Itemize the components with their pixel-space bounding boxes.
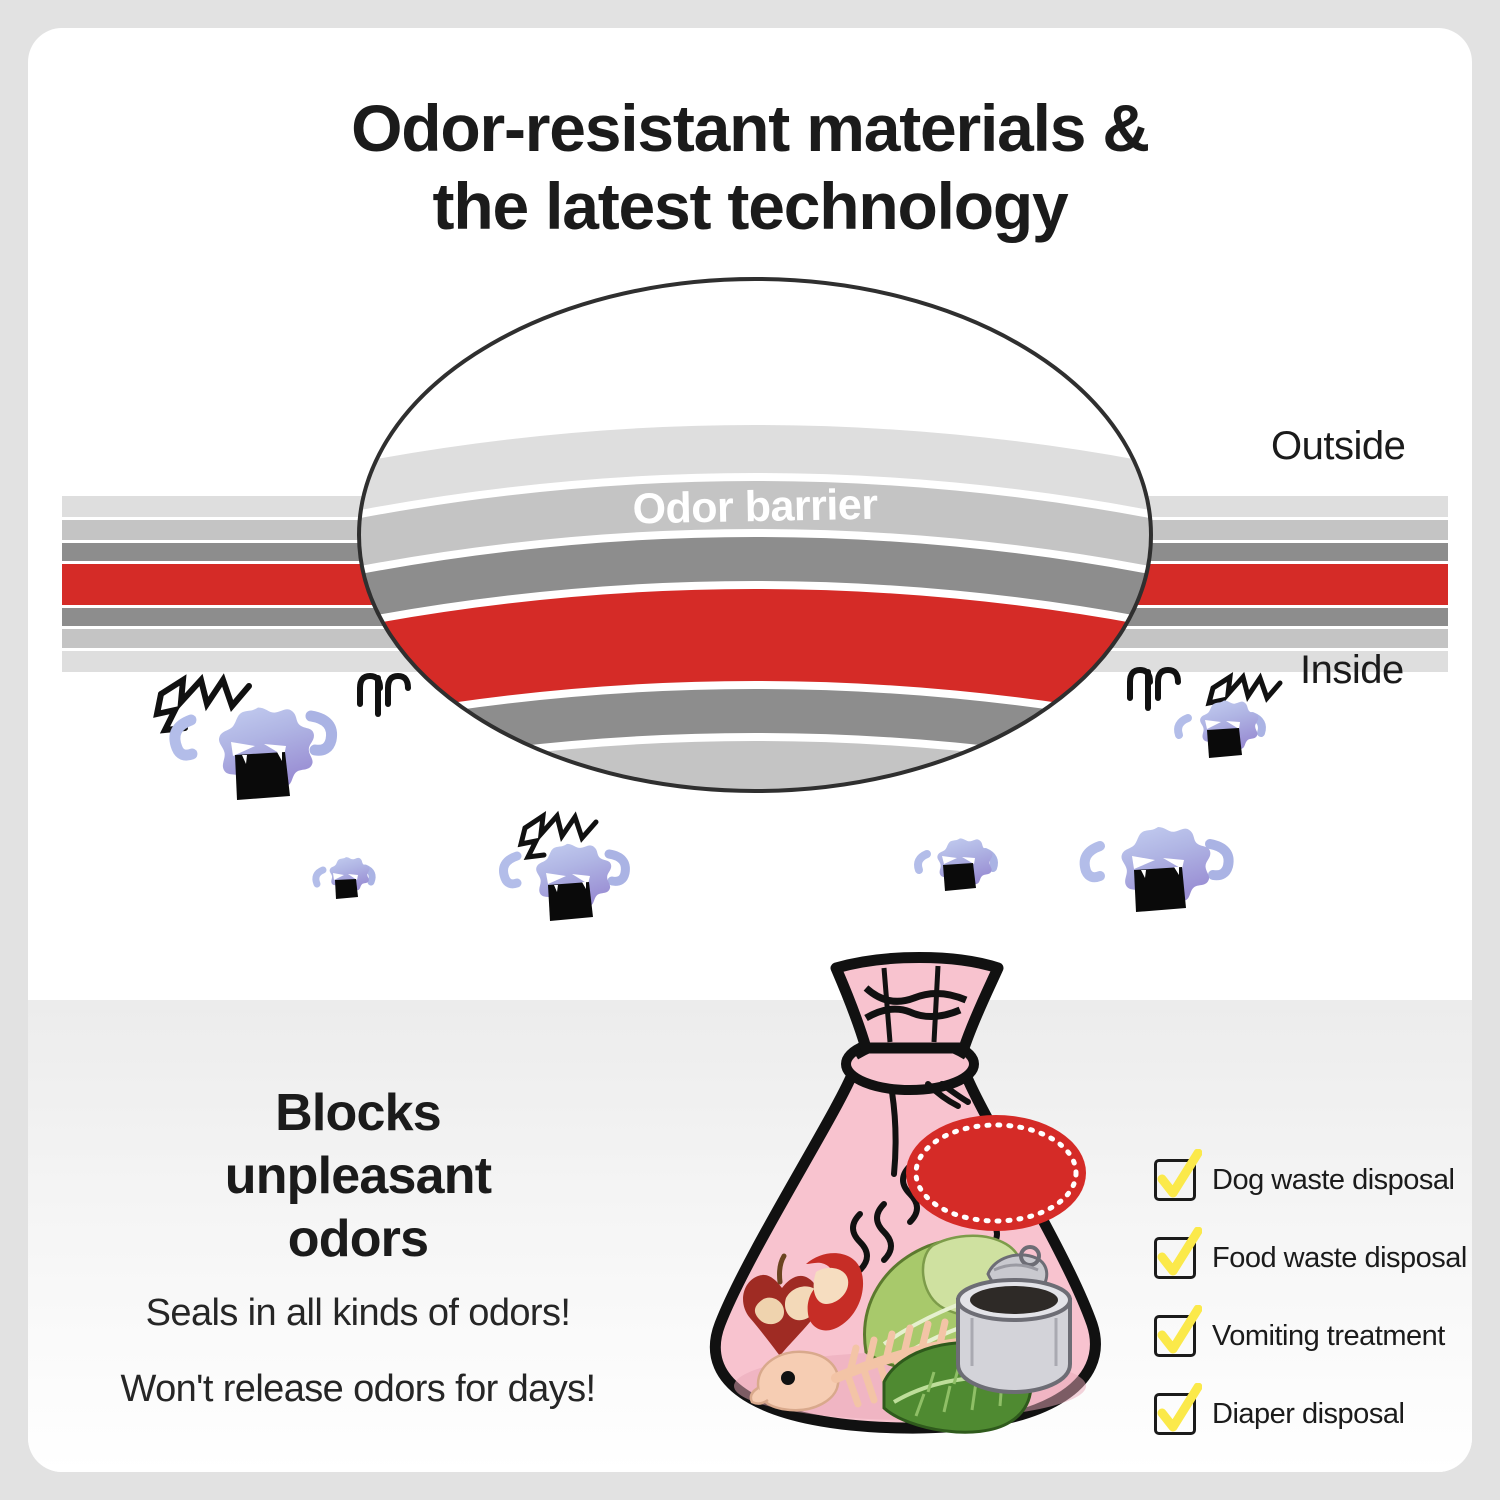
- checkmark-icon[interactable]: [1154, 1237, 1196, 1279]
- checklist-item[interactable]: Vomiting treatment: [1154, 1297, 1472, 1375]
- anger-burst-icon: [157, 680, 249, 730]
- odor-monster-icon: [157, 680, 332, 800]
- checklist-item[interactable]: Food waste disposal: [1154, 1219, 1472, 1297]
- magnifier-ellipse: [355, 275, 1155, 795]
- inside-label: Inside: [1300, 648, 1404, 693]
- layer-inner-film-mid: [355, 741, 1155, 795]
- checkmark-icon[interactable]: [1154, 1315, 1196, 1357]
- deodorizer-badge: [904, 1112, 1088, 1234]
- checklist-item-label: Diaper disposal: [1212, 1398, 1404, 1431]
- blocks-headline-line-3: odors: [288, 1210, 428, 1268]
- checklist-item-label: Food waste disposal: [1212, 1242, 1467, 1275]
- subtext-line-1: Seals in all kinds of odors!: [58, 1292, 658, 1335]
- checklist-item-label: Vomiting treatment: [1212, 1320, 1445, 1353]
- checklist-item[interactable]: Diaper disposal: [1154, 1375, 1472, 1453]
- infographic-canvas: Odor-resistant materials & the latest te…: [0, 0, 1500, 1500]
- checklist-item-label: Dog waste disposal: [1212, 1164, 1454, 1197]
- odor-monster-icon: [504, 816, 626, 921]
- blocks-headline-line-2: unpleasant: [225, 1147, 492, 1205]
- odor-monster-icon: [918, 838, 994, 891]
- odor-monster-icon: [316, 857, 372, 899]
- subtext-line-2: Won't release odors for days!: [58, 1368, 658, 1411]
- checkmark-icon[interactable]: [1154, 1159, 1196, 1201]
- blocks-headline: Blocks unpleasant odors: [158, 1082, 558, 1271]
- outside-label: Outside: [1271, 424, 1405, 469]
- infographic-card: Odor-resistant materials & the latest te…: [28, 28, 1472, 1472]
- checklist: Dog waste disposal Food waste disposal V…: [1154, 1141, 1472, 1453]
- odor-monster-icon: [1085, 827, 1229, 912]
- odor-monster-icon: [1178, 677, 1280, 758]
- blocks-headline-line-1: Blocks: [275, 1084, 441, 1142]
- checkmark-icon[interactable]: [1154, 1393, 1196, 1435]
- checklist-item[interactable]: Dog waste disposal: [1154, 1141, 1472, 1219]
